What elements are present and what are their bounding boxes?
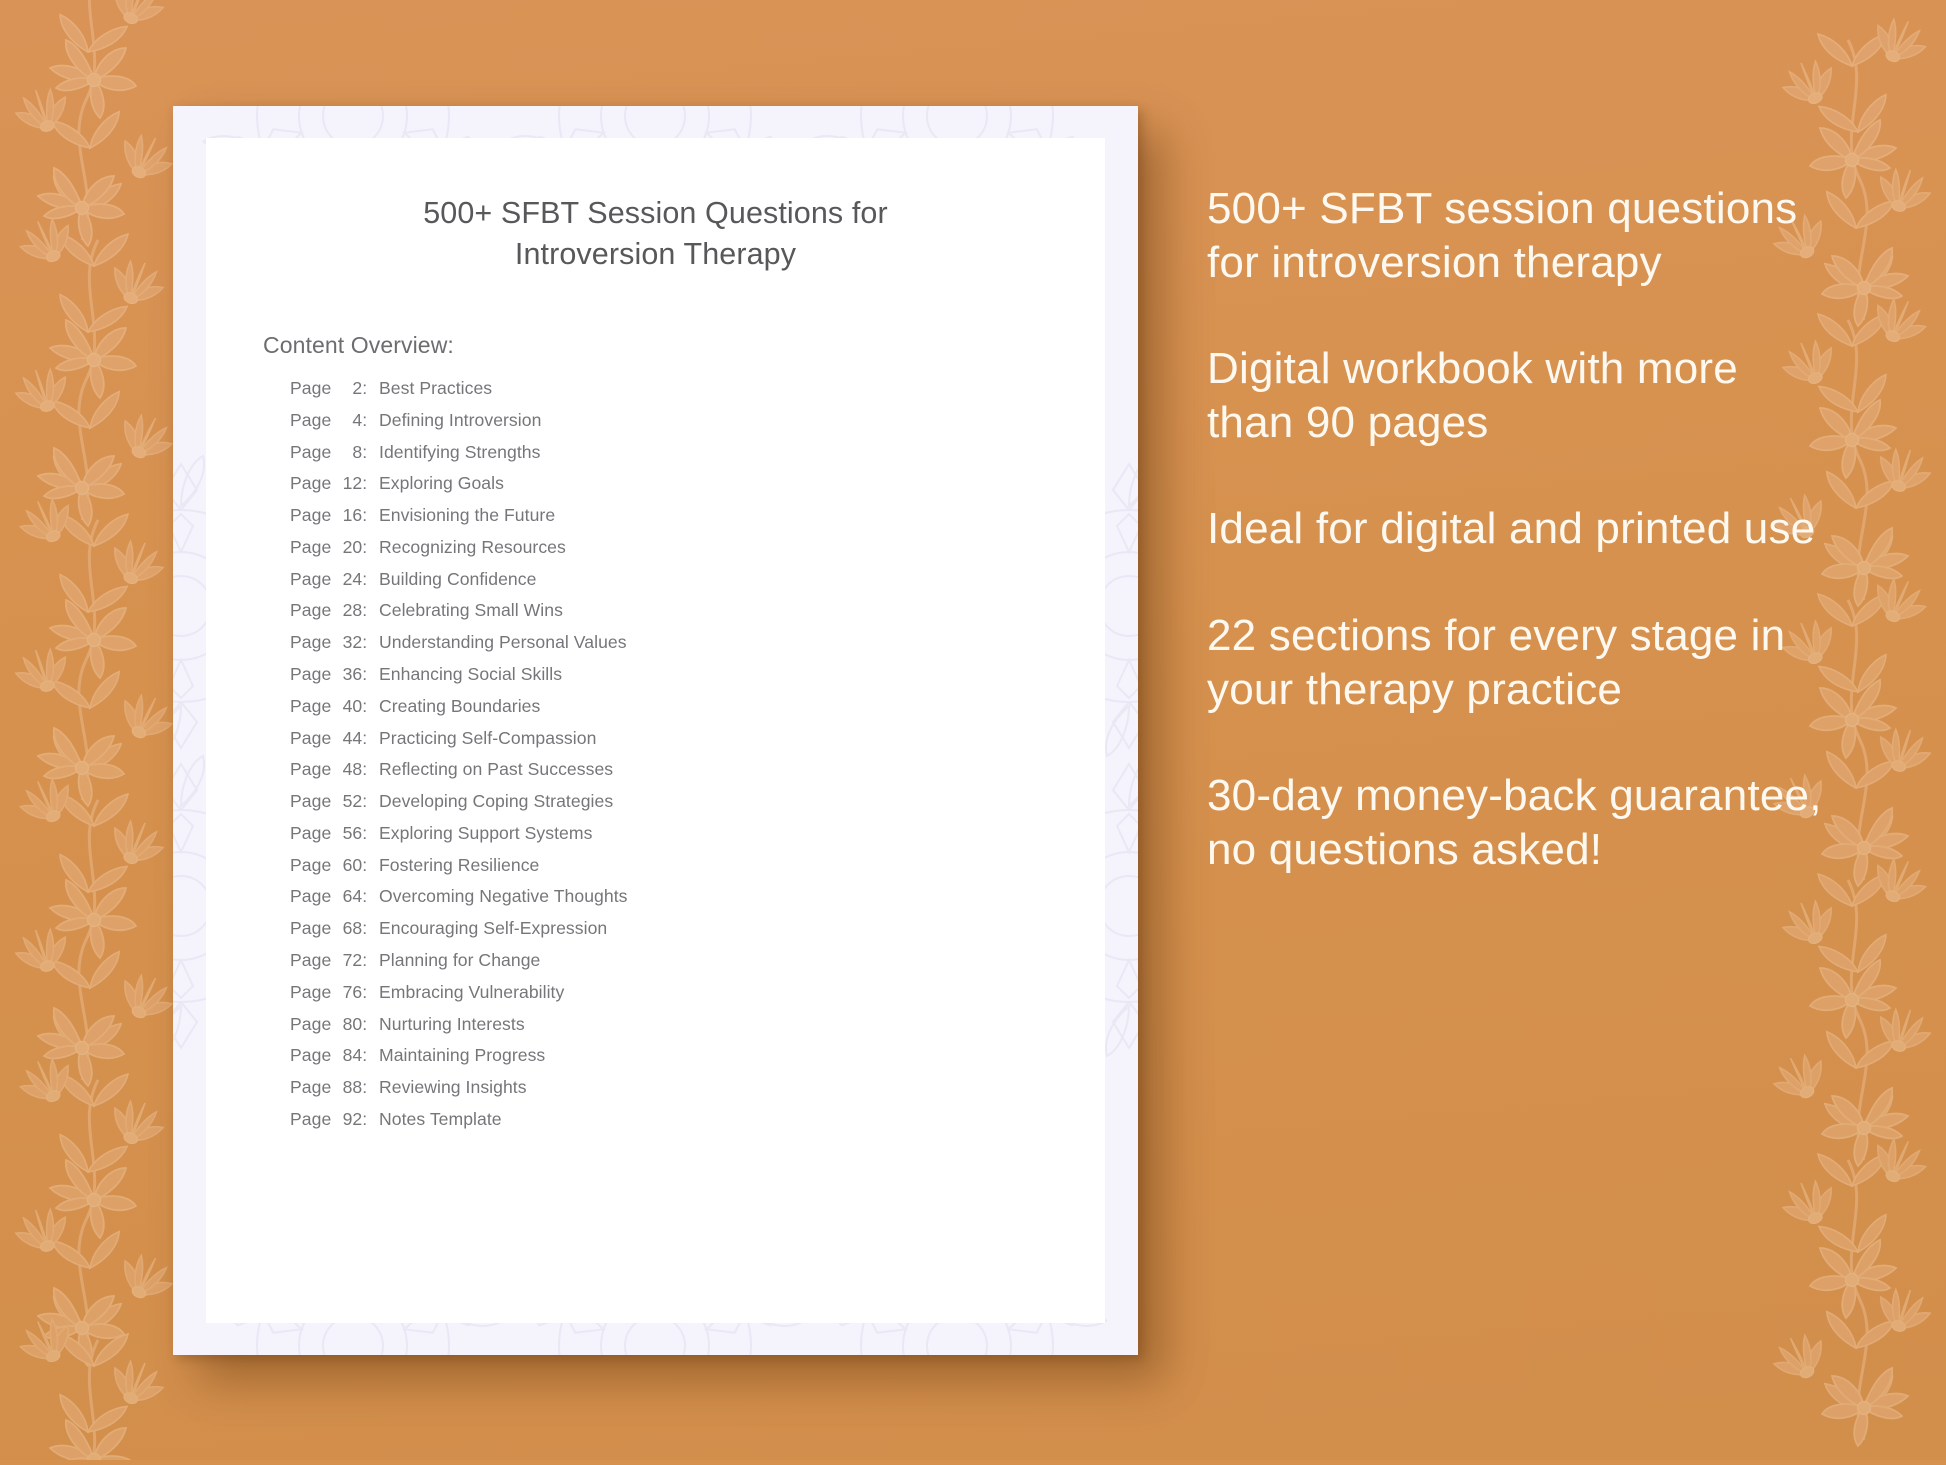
promo-line-sections: 22 sections for every stage in your ther…: [1207, 609, 1827, 717]
toc-topic: Encouraging Self-Expression: [370, 920, 607, 938]
toc-page-label: Page 56:: [290, 825, 370, 843]
toc-page-number: 88: [336, 1079, 362, 1097]
toc-page-label: Page 12:: [290, 475, 370, 493]
toc-page-label: Page 80:: [290, 1016, 370, 1034]
toc-page-label: Page 48:: [290, 761, 370, 779]
toc-page-number: 2: [336, 380, 362, 398]
toc-entry[interactable]: Page 32:Understanding Personal Values: [290, 634, 1105, 652]
toc-page-number: 92: [336, 1111, 362, 1129]
toc-page-label: Page 36:: [290, 666, 370, 684]
toc-entry[interactable]: Page 8:Identifying Strengths: [290, 444, 1105, 462]
toc-page-label: Page 68:: [290, 920, 370, 938]
toc-entry[interactable]: Page 64:Overcoming Negative Thoughts: [290, 888, 1105, 906]
toc-entry[interactable]: Page 40:Creating Boundaries: [290, 698, 1105, 716]
document-page: 500+ SFBT Session Questions for Introver…: [206, 138, 1105, 1323]
toc-page-number: 16: [336, 507, 362, 525]
toc-page-label: Page 92:: [290, 1111, 370, 1129]
toc-topic: Reviewing Insights: [370, 1079, 527, 1097]
toc-entry[interactable]: Page 92:Notes Template: [290, 1111, 1105, 1129]
toc-topic: Exploring Support Systems: [370, 825, 592, 843]
toc-topic: Defining Introversion: [370, 412, 541, 430]
promo-line-page-count: Digital workbook with more than 90 pages: [1207, 342, 1827, 450]
toc-entry[interactable]: Page 88:Reviewing Insights: [290, 1079, 1105, 1097]
toc-topic: Understanding Personal Values: [370, 634, 627, 652]
toc-page-number: 40: [336, 698, 362, 716]
toc-page-number: 20: [336, 539, 362, 557]
toc-page-number: 76: [336, 984, 362, 1002]
toc-topic: Envisioning the Future: [370, 507, 555, 525]
promo-text-column: 500+ SFBT session questions for introver…: [1207, 182, 1827, 877]
toc-topic: Overcoming Negative Thoughts: [370, 888, 628, 906]
document-title: 500+ SFBT Session Questions for Introver…: [206, 138, 1105, 276]
toc-page-number: 84: [336, 1047, 362, 1065]
toc-page-number: 28: [336, 602, 362, 620]
toc-entry[interactable]: Page 28:Celebrating Small Wins: [290, 602, 1105, 620]
toc-topic: Best Practices: [370, 380, 492, 398]
toc-entry[interactable]: Page 36:Enhancing Social Skills: [290, 666, 1105, 684]
toc-page-label: Page 24:: [290, 571, 370, 589]
toc-entry[interactable]: Page 16:Envisioning the Future: [290, 507, 1105, 525]
document-title-line-1: 500+ SFBT Session Questions for: [423, 196, 888, 230]
toc-page-label: Page 28:: [290, 602, 370, 620]
toc-topic: Reflecting on Past Successes: [370, 761, 613, 779]
toc-topic: Enhancing Social Skills: [370, 666, 562, 684]
toc-page-label: Page 32:: [290, 634, 370, 652]
toc-page-label: Page 4:: [290, 412, 370, 430]
toc-entry[interactable]: Page 52:Developing Coping Strategies: [290, 793, 1105, 811]
toc-page-label: Page 60:: [290, 857, 370, 875]
toc-page-number: 80: [336, 1016, 362, 1034]
toc-page-number: 12: [336, 475, 362, 493]
toc-page-label: Page 64:: [290, 888, 370, 906]
toc-topic: Practicing Self-Compassion: [370, 730, 596, 748]
toc-topic: Celebrating Small Wins: [370, 602, 563, 620]
toc-topic: Identifying Strengths: [370, 444, 540, 462]
toc-entry[interactable]: Page 2:Best Practices: [290, 380, 1105, 398]
toc-page-number: 36: [336, 666, 362, 684]
toc-entry[interactable]: Page 84:Maintaining Progress: [290, 1047, 1105, 1065]
toc-topic: Maintaining Progress: [370, 1047, 545, 1065]
toc-topic: Exploring Goals: [370, 475, 504, 493]
toc-entry[interactable]: Page 80:Nurturing Interests: [290, 1016, 1105, 1034]
toc-page-label: Page 44:: [290, 730, 370, 748]
toc-entry[interactable]: Page 60:Fostering Resilience: [290, 857, 1105, 875]
content-overview-label: Content Overview:: [206, 276, 1105, 359]
toc-page-number: 48: [336, 761, 362, 779]
toc-topic: Planning for Change: [370, 952, 540, 970]
toc-entry[interactable]: Page 72:Planning for Change: [290, 952, 1105, 970]
toc-topic: Creating Boundaries: [370, 698, 540, 716]
toc-page-number: 32: [336, 634, 362, 652]
toc-entry[interactable]: Page 4:Defining Introversion: [290, 412, 1105, 430]
toc-page-label: Page 20:: [290, 539, 370, 557]
toc-topic: Fostering Resilience: [370, 857, 539, 875]
document-title-line-2: Introversion Therapy: [515, 237, 796, 271]
toc-entry[interactable]: Page 44:Practicing Self-Compassion: [290, 730, 1105, 748]
toc-entry[interactable]: Page 20:Recognizing Resources: [290, 539, 1105, 557]
toc-topic: Developing Coping Strategies: [370, 793, 613, 811]
document-card[interactable]: 500+ SFBT Session Questions for Introver…: [173, 106, 1138, 1355]
toc-page-label: Page 2:: [290, 380, 370, 398]
toc-page-label: Page 52:: [290, 793, 370, 811]
toc-page-number: 8: [336, 444, 362, 462]
toc-page-number: 68: [336, 920, 362, 938]
toc-page-label: Page 76:: [290, 984, 370, 1002]
toc-topic: Building Confidence: [370, 571, 536, 589]
toc-topic: Nurturing Interests: [370, 1016, 525, 1034]
toc-page-number: 72: [336, 952, 362, 970]
table-of-contents-list: Page 2:Best Practices Page 4:Defining In…: [206, 359, 1105, 1129]
toc-topic: Notes Template: [370, 1111, 502, 1129]
toc-topic: Embracing Vulnerability: [370, 984, 564, 1002]
toc-page-label: Page 72:: [290, 952, 370, 970]
toc-entry[interactable]: Page 68:Encouraging Self-Expression: [290, 920, 1105, 938]
promo-line-usage: Ideal for digital and printed use: [1207, 502, 1827, 556]
toc-page-number: 24: [336, 571, 362, 589]
promo-line-guarantee: 30-day money-back guarantee, no question…: [1207, 769, 1827, 877]
promo-line-product-title: 500+ SFBT session questions for introver…: [1207, 182, 1827, 290]
toc-entry[interactable]: Page 12:Exploring Goals: [290, 475, 1105, 493]
toc-page-number: 4: [336, 412, 362, 430]
toc-entry[interactable]: Page 76:Embracing Vulnerability: [290, 984, 1105, 1002]
toc-page-label: Page 88:: [290, 1079, 370, 1097]
toc-page-number: 52: [336, 793, 362, 811]
toc-entry[interactable]: Page 56:Exploring Support Systems: [290, 825, 1105, 843]
toc-entry[interactable]: Page 24:Building Confidence: [290, 571, 1105, 589]
toc-page-label: Page 16:: [290, 507, 370, 525]
toc-page-label: Page 8:: [290, 444, 370, 462]
toc-page-label: Page 40:: [290, 698, 370, 716]
toc-page-number: 56: [336, 825, 362, 843]
toc-page-label: Page 84:: [290, 1047, 370, 1065]
toc-topic: Recognizing Resources: [370, 539, 566, 557]
toc-page-number: 60: [336, 857, 362, 875]
toc-page-number: 44: [336, 730, 362, 748]
toc-entry[interactable]: Page 48:Reflecting on Past Successes: [290, 761, 1105, 779]
toc-page-number: 64: [336, 888, 362, 906]
